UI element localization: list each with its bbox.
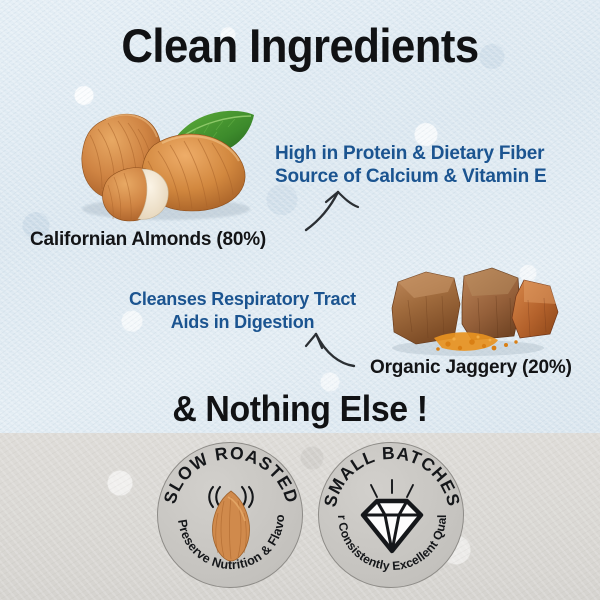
jaggery-chunk-left bbox=[392, 272, 460, 344]
jaggery-caption: Organic Jaggery (20%) bbox=[370, 356, 572, 379]
almonds-caption: Californian Almonds (80%) bbox=[30, 228, 266, 251]
clean-ingredients-poster: Clean Ingredients bbox=[0, 0, 600, 600]
almond-icon bbox=[213, 491, 250, 561]
badge-slow-roasted: SLOW ROASTED To Preserve Nutrition & Fla… bbox=[157, 442, 303, 588]
arrow-to-nutrition-claim bbox=[300, 182, 370, 234]
jaggery-chunk-middle bbox=[462, 268, 520, 340]
jaggery-photo bbox=[368, 252, 564, 360]
badge-small-batches: SMALL BATCHES For Consistently Excellent… bbox=[318, 442, 464, 588]
almond-claim-line-1: High in Protein & Dietary Fiber bbox=[275, 142, 595, 165]
page-title: Clean Ingredients bbox=[21, 20, 579, 72]
almonds-photo bbox=[58, 85, 268, 225]
arrow-to-health-claim bbox=[292, 322, 362, 372]
nothing-else-headline: & Nothing Else ! bbox=[18, 388, 582, 430]
almond-half-front bbox=[102, 168, 168, 221]
sparkle-lines-icon bbox=[371, 480, 413, 497]
jaggery-claim-line-1: Cleanses Respiratory Tract bbox=[100, 288, 385, 311]
